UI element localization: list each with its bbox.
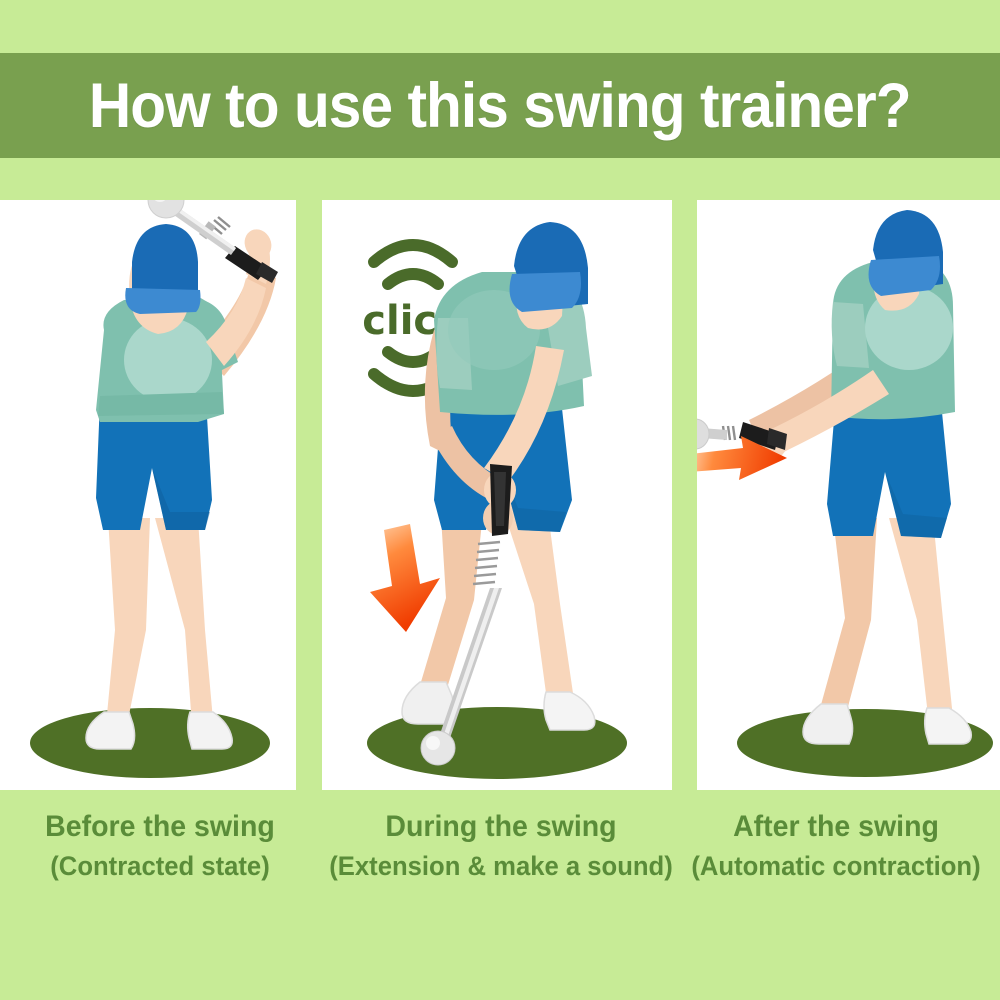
arrow-down-left <box>370 524 440 632</box>
shoe-right <box>925 708 972 744</box>
sound-arc-top-inner <box>388 274 438 284</box>
leg-right <box>155 518 213 725</box>
caption-after: After the swing (Automatic contraction) <box>672 808 1000 886</box>
panel-before-the-swing <box>0 200 296 790</box>
caption-before-title: Before the swing <box>8 808 312 846</box>
caption-after-title: After the swing <box>680 808 992 846</box>
shoe-left <box>803 704 853 744</box>
panel-during-the-swing: click <box>322 200 672 790</box>
illustration-before <box>0 200 296 790</box>
page-title: How to use this swing trainer? <box>89 70 911 142</box>
infographic-page: How to use this swing trainer? <box>0 0 1000 1000</box>
shirt-hem <box>98 392 224 416</box>
sound-arc-top-outer <box>374 245 452 262</box>
sleeve-left <box>832 302 869 368</box>
panel-after-the-swing <box>697 200 1000 790</box>
club-grip-hi <box>494 472 506 526</box>
club-ball-head <box>421 731 455 765</box>
caption-row: Before the swing (Contracted state) Duri… <box>0 790 1000 1000</box>
leg-right <box>889 518 953 724</box>
arrow-shape <box>370 524 440 632</box>
caption-during-subtitle: (Extension & make a sound) <box>325 846 677 887</box>
cap-brim <box>510 272 581 312</box>
caption-before: Before the swing (Contracted state) <box>0 808 320 886</box>
caption-during: During the swing (Extension & make a sou… <box>316 808 686 886</box>
illustration-after <box>697 200 1000 790</box>
caption-after-subtitle: (Automatic contraction) <box>680 846 992 887</box>
cap-brim <box>125 288 200 314</box>
club-ball-highlight <box>426 736 440 750</box>
shoe-right <box>544 692 595 730</box>
cap-brim <box>869 256 940 296</box>
title-banner: How to use this swing trainer? <box>0 53 1000 158</box>
panel-row: click <box>0 200 1000 790</box>
ground-ellipse <box>30 708 270 778</box>
cap-crown <box>132 224 198 296</box>
leg-left <box>819 518 877 718</box>
caption-during-title: During the swing <box>325 808 677 846</box>
club-ball-head <box>697 419 709 449</box>
illustration-during: click <box>322 200 672 790</box>
leg-left <box>106 518 150 725</box>
caption-before-subtitle: (Contracted state) <box>8 846 312 887</box>
